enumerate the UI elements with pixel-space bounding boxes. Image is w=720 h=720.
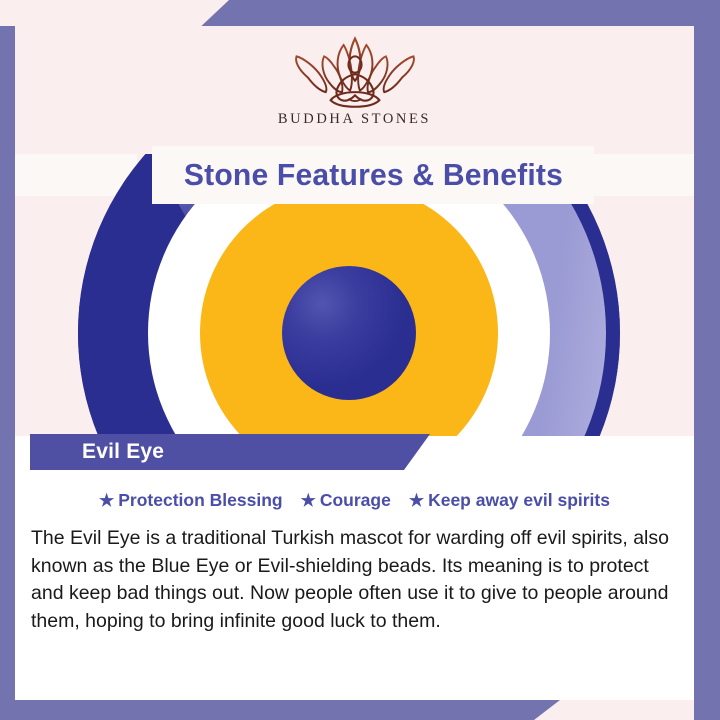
product-name-banner: Evil Eye [30, 434, 430, 470]
page-title-panel: Stone Features & Benefits [152, 146, 594, 204]
star-icon: ★ [99, 492, 114, 509]
feature-label-2: Courage [320, 490, 391, 511]
page-title: Stone Features & Benefits [183, 157, 562, 193]
description-section: ★ Protection Blessing ★ Courage ★ Keep a… [15, 470, 694, 700]
feature-item-1: ★ Protection Blessing [99, 490, 283, 511]
content-card: BUDDHA STONES Stone Features & Benefits … [15, 26, 694, 700]
brand-header: BUDDHA STONES [15, 26, 694, 154]
feature-label-1: Protection Blessing [118, 490, 282, 511]
feature-item-2: ★ Courage [301, 490, 391, 511]
frame-band-bottom [0, 700, 560, 720]
feature-label-3: Keep away evil spirits [428, 490, 610, 511]
poster-canvas: BUDDHA STONES Stone Features & Benefits … [0, 0, 720, 720]
star-icon: ★ [301, 492, 316, 509]
star-icon: ★ [409, 492, 424, 509]
description-text: The Evil Eye is a traditional Turkish ma… [31, 525, 676, 636]
eye-pupil [282, 266, 416, 400]
brand-name: BUDDHA STONES [278, 111, 431, 128]
feature-item-3: ★ Keep away evil spirits [409, 490, 610, 511]
frame-band-left [0, 26, 15, 720]
frame-band-right [694, 0, 720, 720]
lotus-meditation-icon [271, 32, 439, 110]
feature-list: ★ Protection Blessing ★ Courage ★ Keep a… [15, 470, 694, 511]
product-name: Evil Eye [30, 440, 164, 464]
